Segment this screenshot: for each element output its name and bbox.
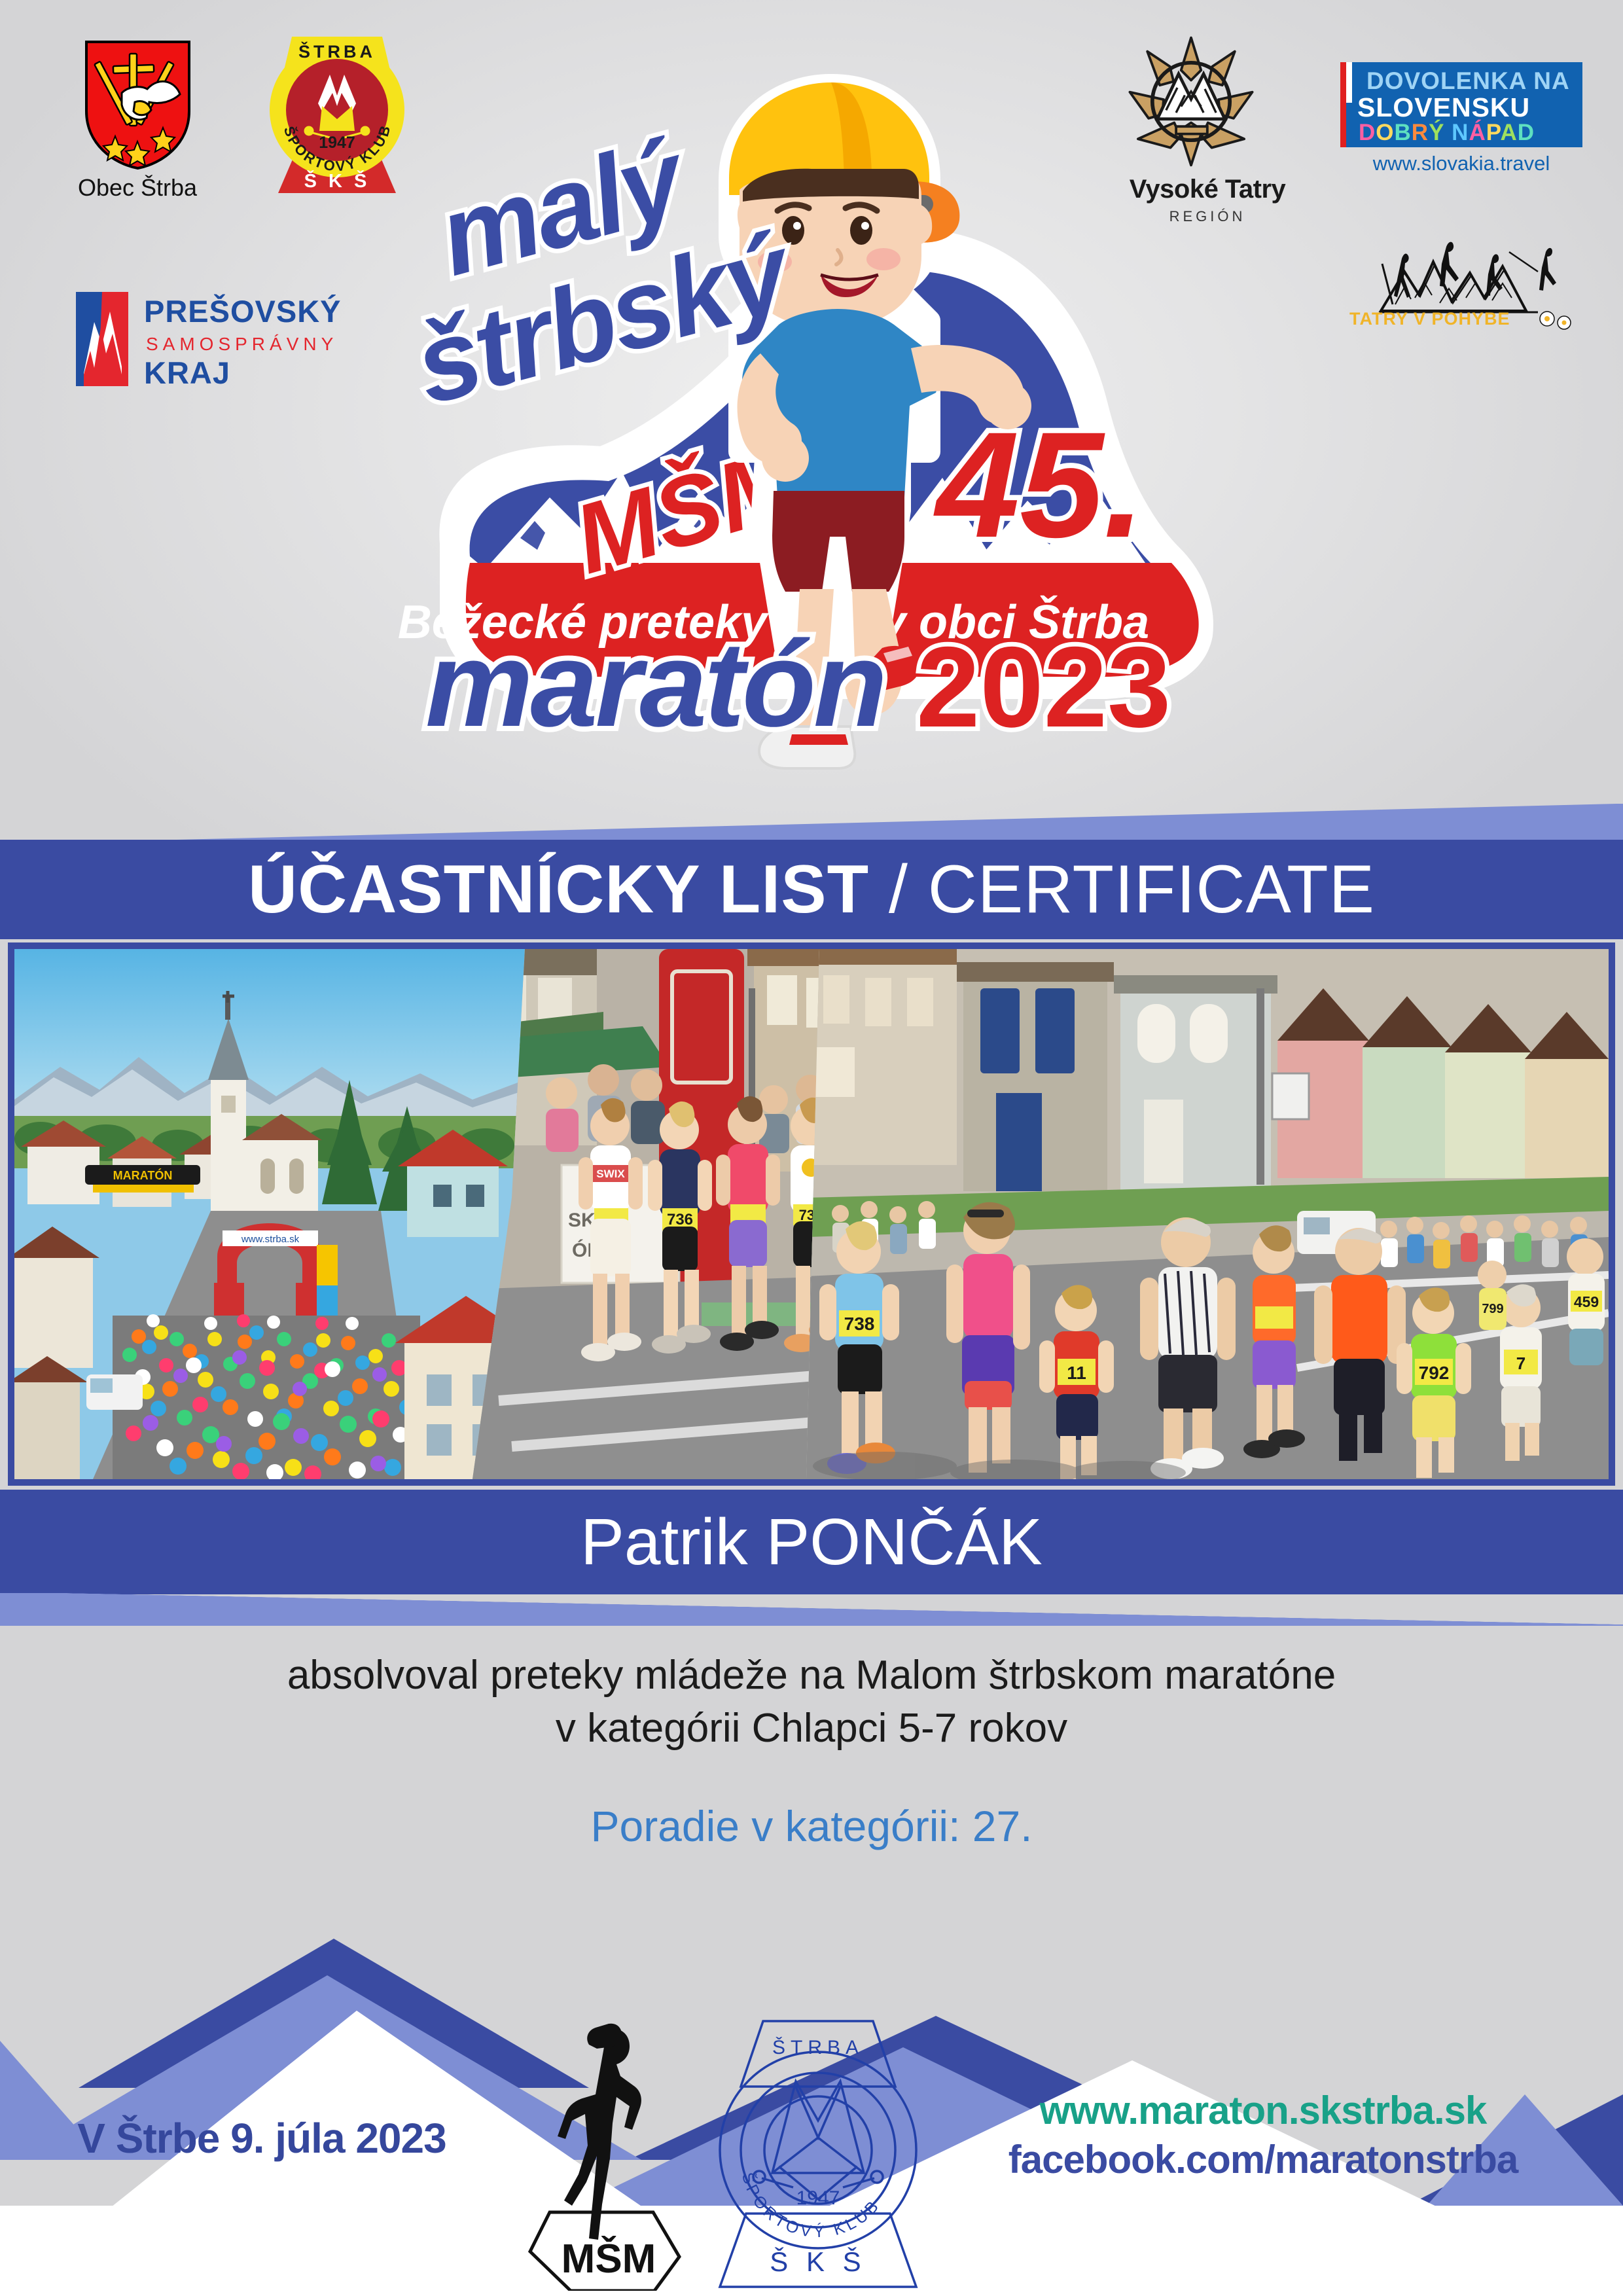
sk-line3: DOBRÝ NÁPAD bbox=[1359, 120, 1535, 146]
title-sk: ÚČASTNÍCKY LIST bbox=[248, 852, 869, 927]
footer-links: www.maraton.skstrba.sk facebook.com/mara… bbox=[969, 2088, 1558, 2182]
certificate-title-banner: ÚČASTNÍCKY LIST / CERTIFICATE bbox=[0, 840, 1623, 939]
achievement-line-2: v kategórii Chlapci 5-7 rokov bbox=[0, 1702, 1623, 1755]
logo-word-maraton: maratón bbox=[425, 615, 885, 754]
bib-7: 7 bbox=[1516, 1354, 1525, 1373]
achievement-line-1: absolvoval preteky mládeže na Malom štrb… bbox=[0, 1649, 1623, 1702]
seal-year-label: 1947 bbox=[796, 2187, 840, 2209]
bib-738: 738 bbox=[844, 1314, 875, 1334]
logo-msm-runner: MŠM bbox=[524, 2016, 694, 2291]
banner-bottom-wedge bbox=[0, 1593, 1623, 1626]
sk-red-bar bbox=[1340, 62, 1346, 147]
sks-year-label: 1947 bbox=[319, 134, 355, 152]
issue-date: V Štrbe 9. júla 2023 bbox=[52, 2114, 471, 2162]
bib-11: 11 bbox=[1067, 1363, 1086, 1383]
race-photo-illustration: www.strba.sk MARATÓN bbox=[14, 949, 1609, 1479]
seal-top-label: ŠTRBA bbox=[772, 2036, 864, 2058]
title-sep: / bbox=[869, 852, 928, 927]
bib-792: 792 bbox=[1419, 1363, 1450, 1383]
sk-white-bar bbox=[1346, 62, 1352, 103]
category-rank: Poradie v kategórii: 27. bbox=[0, 1801, 1623, 1851]
psk-line3: KRAJ bbox=[144, 355, 230, 390]
participant-name-banner: Patrik PONČÁK bbox=[0, 1490, 1623, 1594]
certificate-page: Obec Štrba ŠTRBA 1947 Š K Š ŠPORTOVÝ KLU… bbox=[0, 0, 1623, 2296]
svg-text:SWIX: SWIX bbox=[596, 1168, 625, 1180]
sk-line2: SLOVENSKU bbox=[1357, 92, 1530, 123]
psk-line1: PREŠOVSKÝ bbox=[144, 294, 342, 329]
logo-year: 2023 bbox=[916, 622, 1171, 753]
slovakia-travel-url[interactable]: www.slovakia.travel bbox=[1340, 152, 1582, 175]
msm-logo-text: MŠM bbox=[562, 2236, 656, 2282]
psk-line2: SAMOSPRÁVNY bbox=[146, 334, 338, 354]
bib-799: 799 bbox=[1482, 1302, 1503, 1316]
sk-line1: DOVOLENKA NA bbox=[1366, 67, 1570, 95]
achievement-text: absolvoval preteky mládeže na Malom štrb… bbox=[0, 1649, 1623, 1755]
title-en: CERTIFICATE bbox=[928, 852, 1375, 927]
logo-obec-caption: Obec Štrba bbox=[65, 174, 209, 202]
seal-bottom-label: Š K Š bbox=[770, 2246, 866, 2277]
participant-name: Patrik PONČÁK bbox=[580, 1505, 1043, 1580]
race-photo: www.strba.sk MARATÓN bbox=[8, 942, 1615, 1486]
svg-text:MARATÓN: MARATÓN bbox=[113, 1168, 173, 1182]
bib-736: 736 bbox=[667, 1211, 693, 1229]
svg-text:www.strba.sk: www.strba.sk bbox=[241, 1234, 300, 1245]
logo-tvp-caption: TATRY V POHYBE bbox=[1349, 309, 1510, 329]
banner-top-wedge bbox=[0, 804, 1623, 844]
logo-obec-strba: Obec Štrba bbox=[65, 39, 209, 202]
certificate-title: ÚČASTNÍCKY LIST / CERTIFICATE bbox=[248, 851, 1375, 929]
logo-presovsky-kraj: PREŠOVSKÝ SAMOSPRÁVNY KRAJ bbox=[72, 288, 386, 393]
bib-459: 459 bbox=[1574, 1293, 1599, 1310]
logo-slovakia-travel: DOVOLENKA NA SLOVENSKU DOBRÝ NÁPAD www.s… bbox=[1340, 62, 1582, 175]
edition-number: 45. bbox=[933, 401, 1145, 569]
website-link[interactable]: www.maraton.skstrba.sk bbox=[969, 2088, 1558, 2133]
facebook-link[interactable]: facebook.com/maratonstrba bbox=[969, 2137, 1558, 2182]
coat-of-arms-icon bbox=[84, 39, 192, 170]
sks-top-label: ŠTRBA bbox=[298, 41, 376, 62]
slovakia-travel-box: DOVOLENKA NA SLOVENSKU DOBRÝ NÁPAD bbox=[1340, 62, 1582, 147]
logo-sks-seal: ŠTRBA 1947 Š K Š ŠPORTOVÝ KLUB bbox=[707, 2009, 929, 2291]
event-logo: Bežecké preteky v obci Štrba MŠM 45. bbox=[386, 39, 1250, 798]
